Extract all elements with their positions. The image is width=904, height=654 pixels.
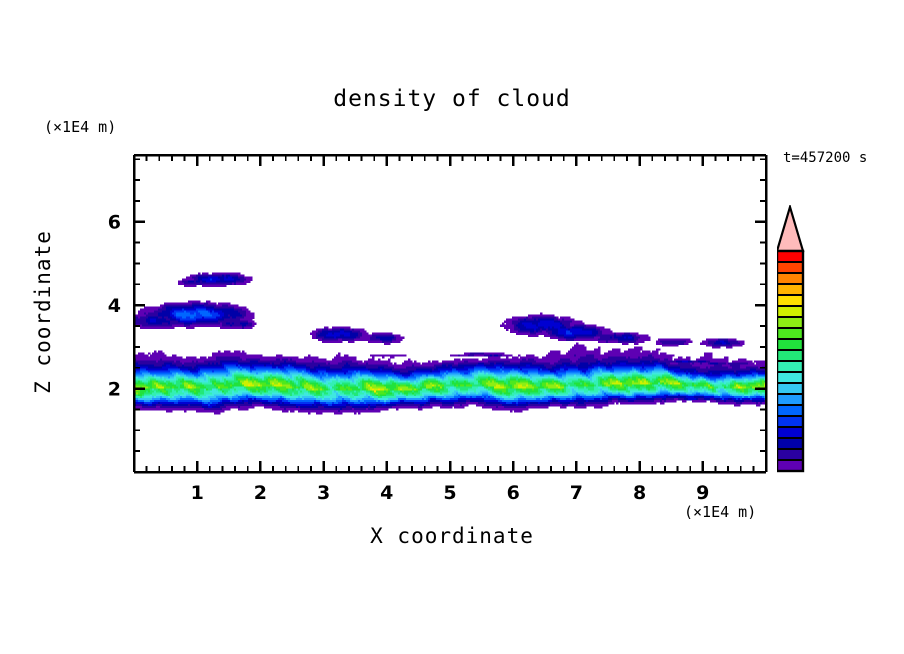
x-tick-label: 7 xyxy=(570,482,583,504)
x-tick-label: 2 xyxy=(254,482,267,504)
x-tick-label: 6 xyxy=(507,482,520,504)
x-tick-label: 1 xyxy=(191,482,204,504)
x-tick-label: 5 xyxy=(443,482,456,504)
colorbar: 1e-166e-51.2e-41.8e-42.4e-43e-43.6e-4 xyxy=(777,205,897,480)
x-tick-label: 8 xyxy=(633,482,646,504)
y-tick-label: 2 xyxy=(108,379,121,401)
axes-frame: 123456789246 xyxy=(0,0,904,654)
x-tick-label: 9 xyxy=(696,482,709,504)
colorbar-swatches xyxy=(777,205,897,480)
y-tick-label: 6 xyxy=(108,212,121,234)
x-tick-label: 3 xyxy=(317,482,330,504)
x-tick-label: 4 xyxy=(380,482,393,504)
y-tick-label: 4 xyxy=(108,295,121,317)
